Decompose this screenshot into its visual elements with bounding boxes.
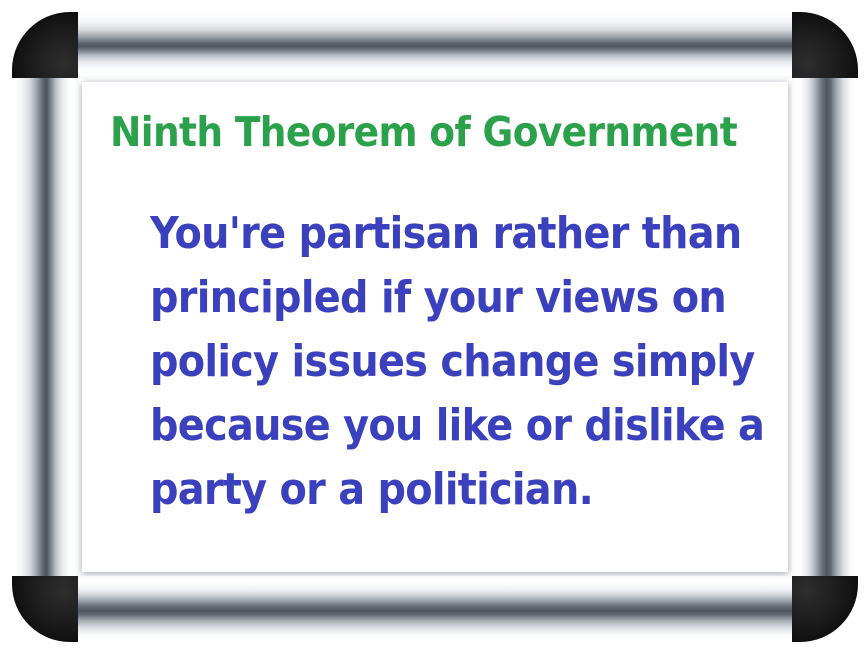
frame-bar-top (70, 12, 800, 78)
sign-title: Ninth Theorem of Government (110, 112, 729, 153)
frame-bar-bottom (70, 576, 800, 642)
frame-corner-top-right (792, 12, 858, 78)
sign-canvas: Ninth Theorem of Government You're parti… (0, 0, 868, 659)
body-line: policy issues change simply (150, 330, 729, 394)
frame-corner-top-left (12, 12, 78, 78)
frame-corner-bottom-left (12, 576, 78, 642)
body-line: party or a politician. (150, 458, 729, 522)
frame-corner-bottom-right (792, 576, 858, 642)
sign-frame: Ninth Theorem of Government You're parti… (12, 12, 858, 642)
frame-bar-right (792, 70, 858, 584)
frame-bar-left (12, 70, 78, 584)
sign-content: Ninth Theorem of Government You're parti… (82, 82, 788, 572)
body-line: principled if your views on (150, 266, 729, 330)
body-line: because you like or dislike a (150, 394, 729, 458)
body-line: You're partisan rather than (150, 202, 729, 266)
sign-body-text: You're partisan rather than principled i… (150, 202, 729, 522)
